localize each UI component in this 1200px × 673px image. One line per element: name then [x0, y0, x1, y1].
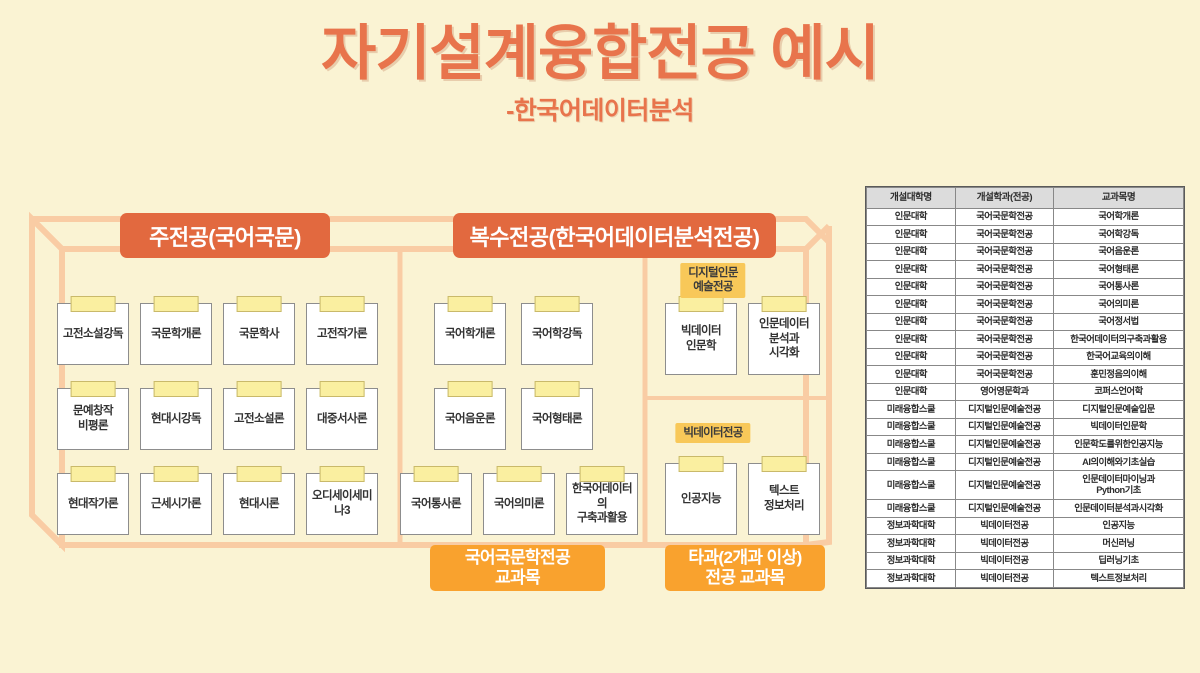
course-card-korean-5[interactable]: 국어의미론 — [483, 473, 555, 535]
card-tab-icon — [448, 381, 493, 397]
table-cell-department: 국어국문학전공 — [955, 366, 1053, 384]
card-label: 현대시론 — [239, 497, 279, 512]
table-row[interactable]: 미래융합스쿨디지털인문예술전공AI의이해와기초실습 — [867, 453, 1184, 471]
table-row[interactable]: 인문대학국어국문학전공국어학개론 — [867, 208, 1184, 226]
card-tab-icon — [679, 296, 724, 312]
table-cell-department: 디지털인문예술전공 — [955, 401, 1053, 419]
card-label: 문예창작비평론 — [73, 404, 113, 433]
table-cell-department: 디지털인문예술전공 — [955, 418, 1053, 436]
card-label: 국어통사론 — [411, 497, 461, 512]
card-label: 국어학개론 — [445, 327, 495, 342]
card-label: 고전소설강독 — [63, 327, 123, 342]
table-cell-department: 빅데이터전공 — [955, 570, 1053, 588]
table-cell-college: 미래융합스쿨 — [867, 418, 956, 436]
course-card-major-10[interactable]: 현대시론 — [223, 473, 295, 535]
table-cell-course: 디지털인문예술입문 — [1054, 401, 1184, 419]
table-cell-department: 국어국문학전공 — [955, 226, 1053, 244]
table-cell-department: 영어영문학과 — [955, 383, 1053, 401]
table-cell-department: 디지털인문예술전공 — [955, 453, 1053, 471]
table-cell-college: 인문대학 — [867, 348, 956, 366]
table-row[interactable]: 정보과학대학빅데이터전공딥러닝기초 — [867, 552, 1184, 570]
table-cell-department: 디지털인문예술전공 — [955, 500, 1053, 518]
table-cell-college: 정보과학대학 — [867, 535, 956, 553]
table-cell-course: 국어음운론 — [1054, 243, 1184, 261]
table-cell-course: 국어통사론 — [1054, 278, 1184, 296]
table-header-row: 개설대학명 개설학과(전공) 교과목명 — [867, 188, 1184, 209]
card-label: 오디세이세미나3 — [310, 489, 374, 518]
card-label: 근세시가론 — [151, 497, 201, 512]
table-cell-course: 한국어교육의이해 — [1054, 348, 1184, 366]
card-tab-icon — [414, 466, 459, 482]
table-row[interactable]: 정보과학대학빅데이터전공머신러닝 — [867, 535, 1184, 553]
course-card-korean-6[interactable]: 한국어데이터의구축과활용 — [566, 473, 638, 535]
table-cell-college: 인문대학 — [867, 261, 956, 279]
course-card-korean-0[interactable]: 국어학개론 — [434, 303, 506, 365]
card-label: 현대시강독 — [151, 412, 201, 427]
card-label: 인문데이터분석과시각화 — [759, 317, 809, 361]
card-tab-icon — [762, 296, 807, 312]
table-cell-department: 빅데이터전공 — [955, 552, 1053, 570]
table-cell-college: 인문대학 — [867, 278, 956, 296]
card-label: 국어형태론 — [532, 412, 582, 427]
subgroup-chip-0: 디지털인문예술전공 — [680, 263, 745, 298]
table-cell-college: 미래융합스쿨 — [867, 436, 956, 454]
table-header-college: 개설대학명 — [867, 188, 956, 209]
course-card-korean-2[interactable]: 국어음운론 — [434, 388, 506, 450]
table-cell-college: 미래융합스쿨 — [867, 401, 956, 419]
table-cell-college: 인문대학 — [867, 208, 956, 226]
table-cell-course: 딥러닝기초 — [1054, 552, 1184, 570]
course-listing-table-wrapper: 개설대학명 개설학과(전공) 교과목명 인문대학국어국문학전공국어학개론인문대학… — [865, 186, 1185, 589]
table-row[interactable]: 정보과학대학빅데이터전공텍스트정보처리 — [867, 570, 1184, 588]
table-cell-department: 국어국문학전공 — [955, 243, 1053, 261]
card-tab-icon — [535, 296, 580, 312]
course-card-korean-3[interactable]: 국어형태론 — [521, 388, 593, 450]
table-cell-department: 빅데이터전공 — [955, 517, 1053, 535]
card-label: 국어학강독 — [532, 327, 582, 342]
table-cell-college: 미래융합스쿨 — [867, 471, 956, 500]
table-cell-college: 미래융합스쿨 — [867, 453, 956, 471]
banner-major-section: 주전공(국어국문) — [120, 213, 330, 258]
table-row[interactable]: 미래융합스쿨디지털인문예술전공디지털인문예술입문 — [867, 401, 1184, 419]
course-card-korean-4[interactable]: 국어통사론 — [400, 473, 472, 535]
table-cell-college: 인문대학 — [867, 226, 956, 244]
table-cell-department: 디지털인문예술전공 — [955, 471, 1053, 500]
table-cell-department: 국어국문학전공 — [955, 296, 1053, 314]
table-row[interactable]: 인문대학영어영문학과코퍼스언어학 — [867, 383, 1184, 401]
table-row[interactable]: 미래융합스쿨디지털인문예술전공인문데이터마이닝과Python기초 — [867, 471, 1184, 500]
table-header-department: 개설학과(전공) — [955, 188, 1053, 209]
table-cell-course: 국어학개론 — [1054, 208, 1184, 226]
table-cell-department: 빅데이터전공 — [955, 535, 1053, 553]
table-row[interactable]: 미래융합스쿨디지털인문예술전공인문학도를위한인공지능 — [867, 436, 1184, 454]
table-cell-college: 인문대학 — [867, 331, 956, 349]
course-card-major-0[interactable]: 고전소설강독 — [57, 303, 129, 365]
table-cell-college: 정보과학대학 — [867, 552, 956, 570]
course-card-major-2[interactable]: 국문학사 — [223, 303, 295, 365]
card-tab-icon — [535, 381, 580, 397]
card-label: 빅데이터인문학 — [681, 324, 721, 353]
course-card-major-11[interactable]: 오디세이세미나3 — [306, 473, 378, 535]
card-tab-icon — [320, 296, 365, 312]
card-label: 국문학사 — [239, 327, 279, 342]
subgroup-chip-1: 빅데이터전공 — [675, 423, 750, 443]
card-tab-icon — [237, 296, 282, 312]
table-cell-department: 국어국문학전공 — [955, 261, 1053, 279]
card-label: 인공지능 — [681, 492, 721, 507]
table-row[interactable]: 정보과학대학빅데이터전공인공지능 — [867, 517, 1184, 535]
card-tab-icon — [71, 466, 116, 482]
card-label: 고전소설론 — [234, 412, 284, 427]
table-cell-course: 인문데이터분석과시각화 — [1054, 500, 1184, 518]
table-cell-college: 정보과학대학 — [867, 517, 956, 535]
table-row[interactable]: 미래융합스쿨디지털인문예술전공인문데이터분석과시각화 — [867, 500, 1184, 518]
course-card-sub-0-1[interactable]: 인문데이터분석과시각화 — [748, 303, 820, 375]
course-card-korean-1[interactable]: 국어학강독 — [521, 303, 593, 365]
course-card-major-1[interactable]: 국문학개론 — [140, 303, 212, 365]
page-title: 자기설계융합전공 예시 — [0, 22, 1200, 85]
table-header-course: 교과목명 — [1054, 188, 1184, 209]
card-tab-icon — [154, 296, 199, 312]
table-cell-department: 디지털인문예술전공 — [955, 436, 1053, 454]
table-body: 인문대학국어국문학전공국어학개론인문대학국어국문학전공국어학강독인문대학국어국문… — [867, 208, 1184, 587]
table-cell-department: 국어국문학전공 — [955, 331, 1053, 349]
card-tab-icon — [320, 466, 365, 482]
table-cell-course: 인문학도를위한인공지능 — [1054, 436, 1184, 454]
card-label: 텍스트정보처리 — [764, 484, 804, 513]
card-tab-icon — [154, 381, 199, 397]
label-korean-major-courses: 국어국문학전공교과목 — [430, 545, 605, 591]
card-label: 국어의미론 — [494, 497, 544, 512]
table-row[interactable]: 인문대학국어국문학전공한국어데이터의구축과활용 — [867, 331, 1184, 349]
table-cell-department: 국어국문학전공 — [955, 278, 1053, 296]
card-tab-icon — [237, 381, 282, 397]
page-subtitle: -한국어데이터분석 — [0, 91, 1200, 127]
course-card-major-8[interactable]: 현대작가론 — [57, 473, 129, 535]
table-row[interactable]: 인문대학국어국문학전공국어학강독 — [867, 226, 1184, 244]
card-tab-icon — [71, 381, 116, 397]
banner-double-major-section: 복수전공(한국어데이터분석전공) — [453, 213, 776, 258]
course-card-major-4[interactable]: 문예창작비평론 — [57, 388, 129, 450]
table-row[interactable]: 인문대학국어국문학전공국어의미론 — [867, 296, 1184, 314]
card-label: 대중서사론 — [317, 412, 367, 427]
table-cell-college: 인문대학 — [867, 243, 956, 261]
table-cell-college: 인문대학 — [867, 383, 956, 401]
card-label: 고전작가론 — [317, 327, 367, 342]
table-row[interactable]: 인문대학국어국문학전공한국어교육의이해 — [867, 348, 1184, 366]
table-cell-department: 국어국문학전공 — [955, 208, 1053, 226]
table-cell-college: 정보과학대학 — [867, 570, 956, 588]
card-tab-icon — [679, 456, 724, 472]
table-row[interactable]: 인문대학국어국문학전공국어형태론 — [867, 261, 1184, 279]
card-tab-icon — [448, 296, 493, 312]
card-tab-icon — [580, 466, 625, 482]
table-row[interactable]: 미래융합스쿨디지털인문예술전공빅데이터인문학 — [867, 418, 1184, 436]
table-cell-course: AI의이해와기초실습 — [1054, 453, 1184, 471]
course-listing-table: 개설대학명 개설학과(전공) 교과목명 인문대학국어국문학전공국어학개론인문대학… — [866, 187, 1184, 588]
table-cell-college: 인문대학 — [867, 296, 956, 314]
course-card-sub-0-0[interactable]: 빅데이터인문학 — [665, 303, 737, 375]
course-card-major-7[interactable]: 대중서사론 — [306, 388, 378, 450]
card-tab-icon — [71, 296, 116, 312]
title-block: 자기설계융합전공 예시 -한국어데이터분석 — [0, 22, 1200, 127]
table-cell-course: 국어학강독 — [1054, 226, 1184, 244]
table-cell-course: 텍스트정보처리 — [1054, 570, 1184, 588]
table-cell-college: 인문대학 — [867, 313, 956, 331]
course-card-sub-1-0[interactable]: 인공지능 — [665, 463, 737, 535]
card-label: 국어음운론 — [445, 412, 495, 427]
label-other-dept-courses: 타과(2개과 이상)전공 교과목 — [665, 545, 825, 591]
card-tab-icon — [497, 466, 542, 482]
card-tab-icon — [762, 456, 807, 472]
card-tab-icon — [237, 466, 282, 482]
card-label: 국문학개론 — [151, 327, 201, 342]
table-cell-college: 미래융합스쿨 — [867, 500, 956, 518]
table-cell-course: 한국어데이터의구축과활용 — [1054, 331, 1184, 349]
course-card-sub-1-1[interactable]: 텍스트정보처리 — [748, 463, 820, 535]
card-label: 한국어데이터의구축과활용 — [570, 482, 634, 526]
course-card-major-9[interactable]: 근세시가론 — [140, 473, 212, 535]
table-cell-course: 머신러닝 — [1054, 535, 1184, 553]
table-row[interactable]: 인문대학국어국문학전공국어정서법 — [867, 313, 1184, 331]
table-cell-course: 국어의미론 — [1054, 296, 1184, 314]
course-card-major-5[interactable]: 현대시강독 — [140, 388, 212, 450]
table-cell-course: 인공지능 — [1054, 517, 1184, 535]
table-cell-course: 훈민정음의이해 — [1054, 366, 1184, 384]
table-cell-course: 인문데이터마이닝과Python기초 — [1054, 471, 1184, 500]
card-label: 현대작가론 — [68, 497, 118, 512]
table-cell-department: 국어국문학전공 — [955, 348, 1053, 366]
table-cell-course: 코퍼스언어학 — [1054, 383, 1184, 401]
table-row[interactable]: 인문대학국어국문학전공훈민정음의이해 — [867, 366, 1184, 384]
table-row[interactable]: 인문대학국어국문학전공국어음운론 — [867, 243, 1184, 261]
table-cell-course: 빅데이터인문학 — [1054, 418, 1184, 436]
table-row[interactable]: 인문대학국어국문학전공국어통사론 — [867, 278, 1184, 296]
table-cell-course: 국어형태론 — [1054, 261, 1184, 279]
card-tab-icon — [320, 381, 365, 397]
course-card-major-3[interactable]: 고전작가론 — [306, 303, 378, 365]
table-cell-department: 국어국문학전공 — [955, 313, 1053, 331]
table-cell-course: 국어정서법 — [1054, 313, 1184, 331]
card-tab-icon — [154, 466, 199, 482]
table-cell-college: 인문대학 — [867, 366, 956, 384]
course-card-major-6[interactable]: 고전소설론 — [223, 388, 295, 450]
